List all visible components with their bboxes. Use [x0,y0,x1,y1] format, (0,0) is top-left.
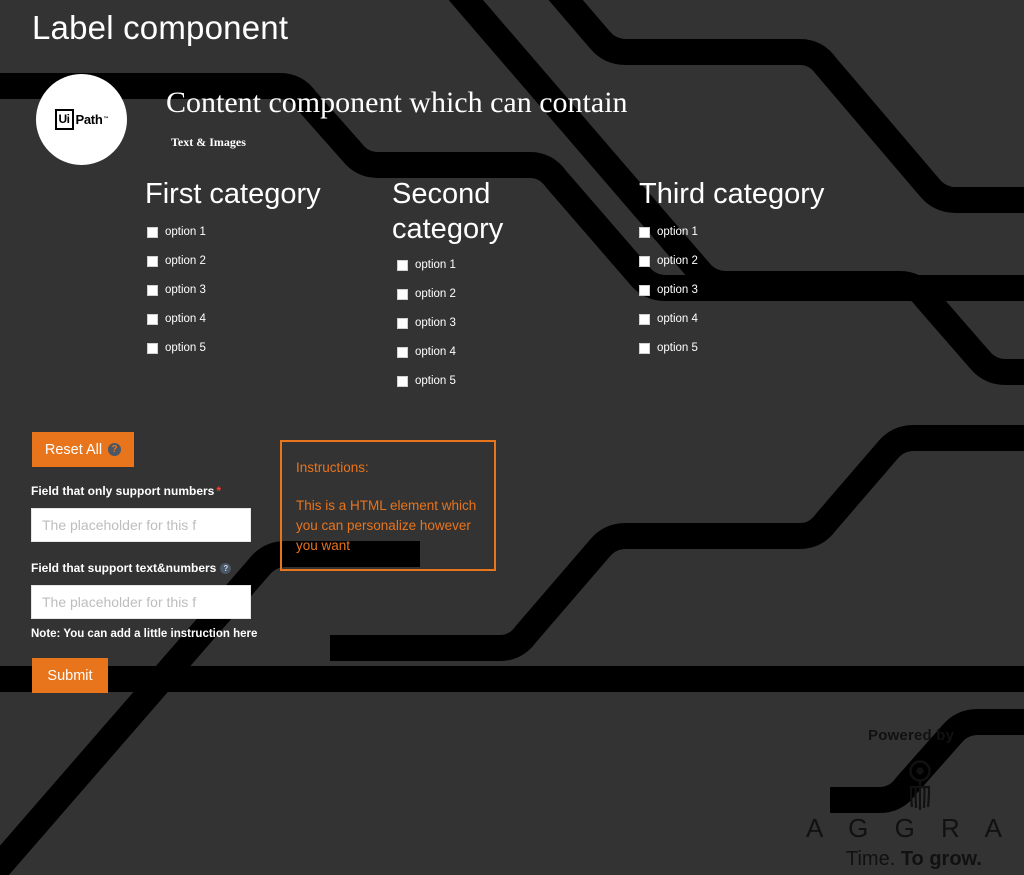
option-list: option 1 option 2 option 3 option 4 opti… [397,259,557,387]
checkbox-row[interactable]: option 1 [147,226,375,238]
checkbox-icon[interactable] [147,343,158,354]
checkbox-icon[interactable] [639,256,650,267]
text-field-label-text: Field that support text&numbers [31,561,216,575]
checkbox-row[interactable]: option 2 [639,255,899,267]
checkbox-icon[interactable] [397,376,408,387]
text-input[interactable] [31,585,251,619]
checkbox-row[interactable]: option 2 [147,255,375,267]
checkbox-row[interactable]: option 5 [147,342,375,354]
checkbox-icon[interactable] [639,285,650,296]
category-title: Second category [392,177,557,247]
checkbox-row[interactable]: option 5 [639,342,899,354]
aggranda-logo-icon [899,760,941,812]
page-title: Label component [32,8,288,48]
checkbox-icon[interactable] [639,343,650,354]
checkbox-icon[interactable] [147,227,158,238]
checkbox-label: option 1 [415,259,456,271]
checkbox-row[interactable]: option 3 [639,284,899,296]
instructions-panel: Instructions: This is a HTML element whi… [280,440,496,571]
checkbox-label: option 3 [165,284,206,296]
checkbox-row[interactable]: option 5 [397,375,557,387]
checkbox-row[interactable]: option 3 [147,284,375,296]
submit-button[interactable]: Submit [32,658,108,693]
checkbox-label: option 4 [415,346,456,358]
checkbox-row[interactable]: option 4 [147,313,375,325]
required-marker-icon: * [216,484,221,498]
aggranda-wordmark: A G G R A N D A [806,812,1024,844]
help-icon[interactable]: ? [108,443,121,456]
reset-all-button[interactable]: Reset All ? [32,432,134,467]
checkbox-row[interactable]: option 2 [397,288,557,300]
help-icon[interactable]: ? [220,563,231,574]
checkbox-row[interactable]: option 3 [397,317,557,329]
checkbox-row[interactable]: option 4 [397,346,557,358]
category-third: Third category option 1 option 2 option … [639,177,899,371]
content-layer: Label component UiPath™ Content componen… [0,0,1024,875]
checkbox-icon[interactable] [147,256,158,267]
checkbox-label: option 1 [165,226,206,238]
trademark-icon: ™ [103,117,108,122]
checkbox-icon[interactable] [639,227,650,238]
checkbox-label: option 5 [415,375,456,387]
aggranda-tagline-light: Time. [846,848,901,870]
checkbox-label: option 4 [165,313,206,325]
checkbox-icon[interactable] [397,289,408,300]
instructions-body: This is a HTML element which you can per… [296,496,480,556]
checkbox-icon[interactable] [639,314,650,325]
uipath-wordmark: UiPath™ [55,109,109,130]
content-subheading: Text & Images [171,134,246,150]
checkbox-icon[interactable] [397,260,408,271]
option-list: option 1 option 2 option 3 option 4 opti… [639,226,899,354]
number-input[interactable] [31,508,251,542]
reset-all-label: Reset All [45,442,102,458]
category-first: First category option 1 option 2 option … [145,177,375,371]
checkbox-label: option 3 [415,317,456,329]
checkbox-icon[interactable] [397,347,408,358]
text-field-label: Field that support text&numbers? [31,561,231,575]
category-second: Second category option 1 option 2 option… [392,177,557,404]
aggranda-tagline-bold: To grow. [901,848,982,870]
number-field-label-text: Field that only support numbers [31,484,214,498]
checkbox-label: option 5 [657,342,698,354]
field-note: Note: You can add a little instruction h… [31,627,257,641]
submit-label: Submit [47,668,92,684]
category-title: First category [145,177,375,212]
checkbox-label: option 2 [415,288,456,300]
content-heading: Content component which can contain [166,86,628,120]
checkbox-label: option 1 [657,226,698,238]
uipath-path-text: Path [76,113,103,126]
checkbox-label: option 3 [657,284,698,296]
number-field-label: Field that only support numbers* [31,484,221,498]
category-title: Third category [639,177,899,212]
instructions-title: Instructions: [296,458,480,478]
checkbox-row[interactable]: option 1 [397,259,557,271]
checkbox-row[interactable]: option 1 [639,226,899,238]
aggranda-tagline: Time. To grow. [846,846,982,872]
checkbox-label: option 2 [657,255,698,267]
option-list: option 1 option 2 option 3 option 4 opti… [145,226,375,354]
checkbox-label: option 2 [165,255,206,267]
checkbox-label: option 4 [657,313,698,325]
checkbox-icon[interactable] [147,314,158,325]
checkbox-icon[interactable] [397,318,408,329]
powered-by-label: Powered by [868,726,954,746]
checkbox-row[interactable]: option 4 [639,313,899,325]
uipath-ui-text: Ui [55,109,74,130]
checkbox-icon[interactable] [147,285,158,296]
app-root: Label component UiPath™ Content componen… [0,0,1024,875]
checkbox-label: option 5 [165,342,206,354]
uipath-logo: UiPath™ [36,74,127,165]
